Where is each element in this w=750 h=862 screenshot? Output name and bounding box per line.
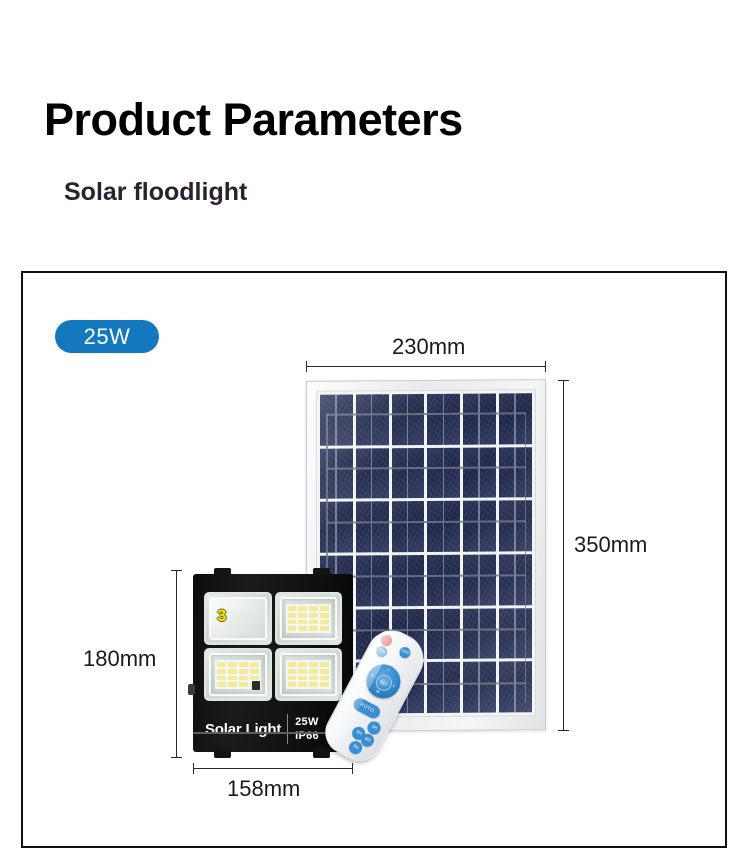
sensor-chip (252, 681, 260, 690)
panel-cell (320, 502, 353, 553)
panel-column (427, 394, 460, 713)
panel-cell (463, 608, 496, 659)
panel-cell (320, 395, 353, 446)
panel-cell (499, 608, 532, 659)
panel-cell (392, 448, 425, 499)
dimension-label-panel-width: 230mm (392, 336, 465, 358)
dimension-label-panel-height: 350mm (574, 534, 647, 556)
bracket-knob (188, 684, 195, 695)
dimension-line-panel-width (306, 366, 546, 367)
panel-cell (427, 608, 460, 659)
panel-cell (427, 394, 460, 445)
panel-cell (392, 394, 425, 445)
panel-cell (463, 555, 496, 606)
panel-column (463, 394, 496, 713)
dimension-label-light-height: 180mm (83, 648, 156, 670)
panel-cell (499, 662, 532, 713)
panel-cell (463, 394, 496, 445)
panel-cell (356, 502, 389, 553)
panel-cell (427, 555, 460, 606)
page-subtitle: Solar floodlight (64, 180, 247, 205)
mount-tab (313, 747, 330, 758)
panel-cell (499, 501, 532, 552)
panel-cell (463, 447, 496, 498)
panel-cell (427, 447, 460, 498)
panel-cell (356, 555, 389, 606)
led-chip-grid (286, 604, 332, 633)
led-module (275, 592, 343, 645)
panel-cell (320, 448, 353, 499)
wattage-badge: 25W (55, 320, 159, 353)
brand-divider (287, 714, 288, 744)
floodlight-power-rating: 25W (295, 716, 319, 728)
remote-dpad-up-label: + (387, 668, 391, 673)
panel-cell (427, 501, 460, 552)
panel-cell (499, 447, 532, 498)
dimension-line-light-height (176, 570, 177, 758)
panel-cell (463, 501, 496, 552)
panel-cell (356, 448, 389, 499)
mount-tab (214, 747, 231, 758)
panel-cell (392, 501, 425, 552)
panel-cell (499, 393, 532, 444)
remote-dpad-down-label: M (375, 689, 380, 694)
panel-cell (356, 394, 389, 445)
panel-column (499, 393, 532, 712)
floodlight-spec-list: 25W IP66 (295, 716, 319, 742)
led-chip-grid (286, 660, 332, 689)
remote-off-button: OFF (398, 645, 413, 660)
dimension-line-panel-height (563, 380, 564, 731)
brand-name: Solar Light (205, 721, 281, 738)
panel-cell (392, 555, 425, 606)
page-title: Product Parameters (44, 97, 463, 142)
remote-dpad-left-label: R (370, 673, 374, 678)
led-module (204, 648, 272, 701)
panel-cell (499, 554, 532, 605)
led-module (204, 592, 272, 645)
panel-cell (427, 662, 460, 713)
led-marker-badge: 3 (217, 607, 226, 624)
panel-cell (463, 662, 496, 713)
dimension-label-light-width: 158mm (227, 778, 300, 800)
remote-auto-button: AUTO (352, 696, 383, 721)
remote-dpad-right-label: T (391, 684, 395, 689)
remote-dpad: + T M R SET (360, 658, 406, 704)
dimension-line-light-width (193, 768, 353, 769)
led-module (275, 648, 343, 701)
